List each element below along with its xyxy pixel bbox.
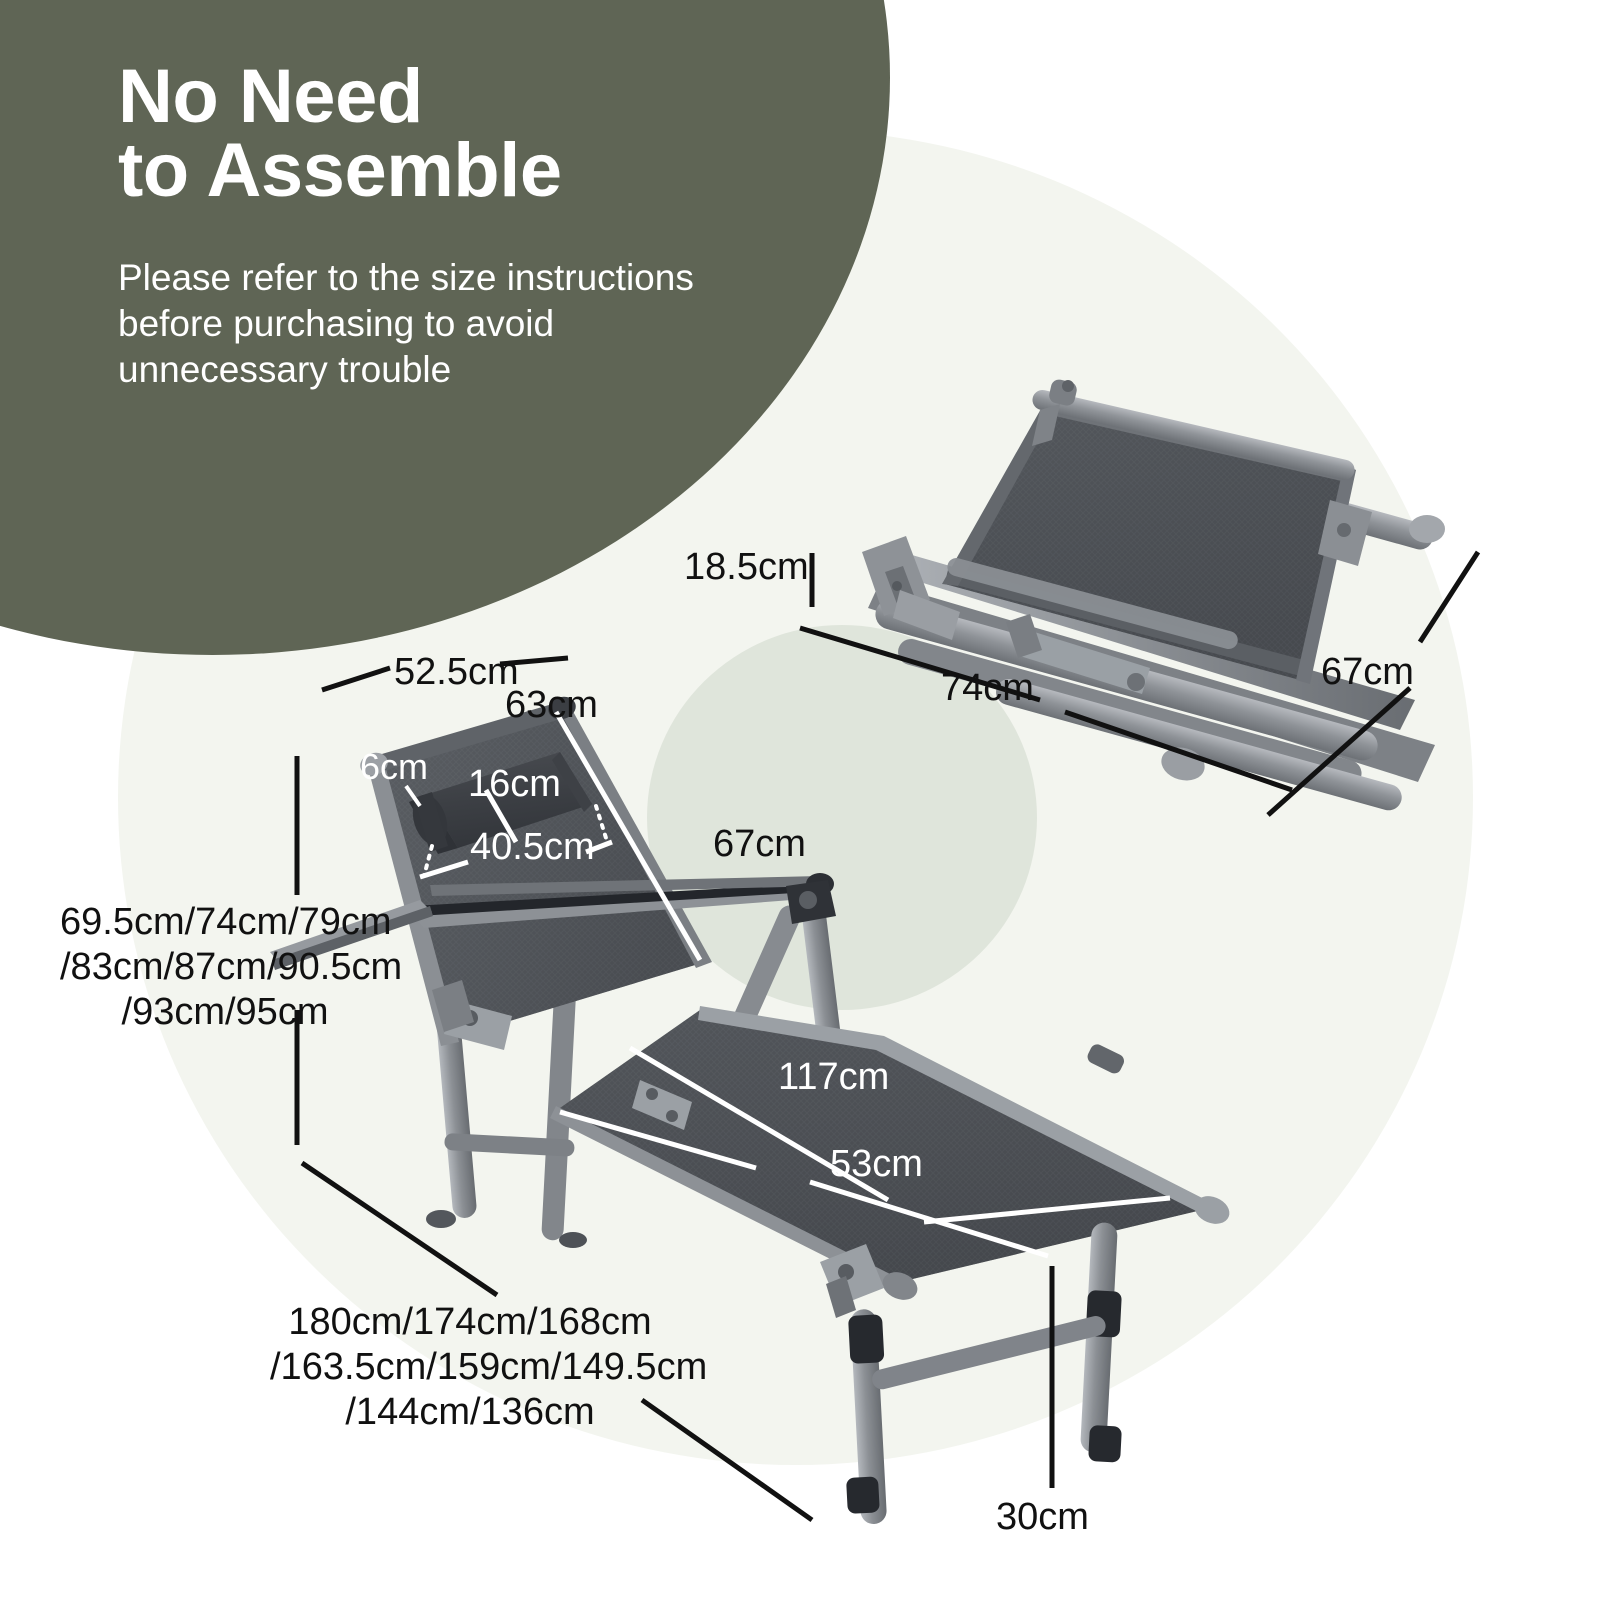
label-pillow-width: 40.5cm — [470, 825, 595, 870]
label-length-range-line2: /163.5cm/159cm/149.5cm — [270, 1345, 670, 1390]
label-folded-height: 18.5cm — [684, 545, 809, 590]
label-height-range-line2: /83cm/87cm/90.5cm — [60, 945, 390, 990]
label-seat-length: 117cm — [778, 1055, 889, 1100]
label-pillow-height: 16cm — [468, 762, 561, 807]
label-height-range-line3: /93cm/95cm — [60, 990, 390, 1035]
label-length-range: 180cm/174cm/168cm /163.5cm/159cm/149.5cm… — [270, 1300, 670, 1434]
label-folded-depth: 67cm — [1321, 650, 1414, 695]
label-height-range: 69.5cm/74cm/79cm /83cm/87cm/90.5cm /93cm… — [60, 900, 390, 1034]
label-folded-width: 74cm — [941, 666, 1034, 711]
label-length-range-line3: /144cm/136cm — [270, 1390, 670, 1435]
label-length-range-line1: 180cm/174cm/168cm — [270, 1300, 670, 1345]
label-height-range-line1: 69.5cm/74cm/79cm — [60, 900, 390, 945]
label-backrest-length: 63cm — [505, 683, 598, 728]
dimension-labels-layer: 18.5cm 74cm 67cm 52.5cm 63cm 6cm 16cm 40… — [0, 0, 1600, 1600]
label-backrest-width-top: 52.5cm — [394, 650, 519, 695]
label-armrest-span: 67cm — [713, 822, 806, 867]
infographic-canvas: No Need to Assemble Please refer to the … — [0, 0, 1600, 1600]
label-pillow-thickness: 6cm — [360, 746, 428, 788]
label-leg-height: 30cm — [996, 1495, 1089, 1540]
label-seat-width: 53cm — [830, 1142, 923, 1187]
